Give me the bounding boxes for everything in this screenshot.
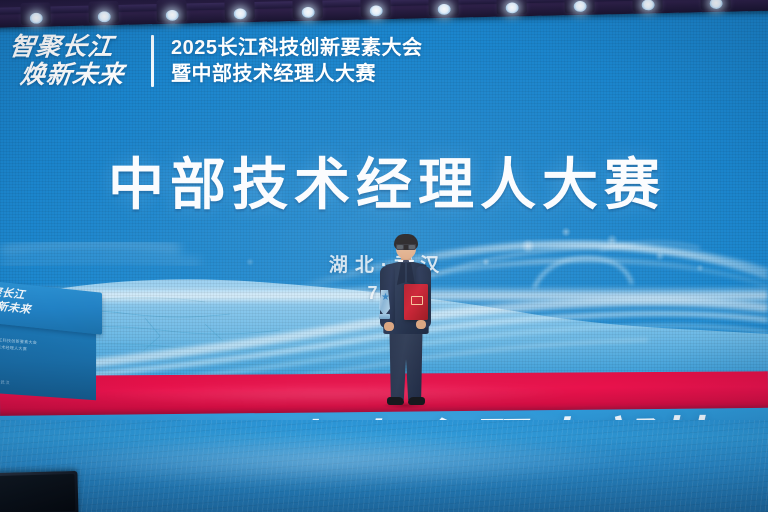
award-recipient: ★ [368, 234, 442, 414]
floor-sheen [38, 433, 637, 488]
person-shoe-right [408, 397, 425, 405]
podium-foot-text: 湖北 · 武汉 [0, 378, 11, 386]
glasses-bridge-icon [396, 244, 416, 249]
stage-light-icon [632, 0, 662, 12]
stage-light-icon [156, 0, 186, 22]
stage-floor [0, 420, 768, 512]
stage-light-icon [564, 0, 594, 13]
certificate-seal [411, 296, 423, 305]
person-trousers [388, 330, 424, 400]
slogan-line-1: 智聚长江 [8, 34, 139, 61]
logo-divider [151, 35, 154, 87]
podium-plate-text: 2025长江科技创新要素大会 暨中部技术经理人大赛 [0, 336, 70, 356]
stage-monitor [0, 471, 79, 512]
monitor-screen [0, 474, 75, 512]
trophy-base [379, 314, 390, 319]
event-logo-lockup: 智聚长江 焕新未来 2025长江科技创新要素大会 暨中部技术经理人大赛 [8, 34, 423, 89]
trophy-star-icon: ★ [381, 293, 390, 303]
stage-light-icon [428, 0, 458, 16]
stage-light-icon [700, 0, 730, 10]
slogan-line-2: 焕新未来 [5, 62, 136, 89]
podium-logo: 智聚长江 焕新未来 [0, 284, 92, 323]
event-slogan-logo: 智聚长江 焕新未来 [5, 34, 140, 89]
speaker-podium: 2025长江科技创新要素大会 暨中部技术经理人大赛 湖北 · 武汉 智聚长江 焕… [0, 286, 104, 396]
event-title-line-1: 2025长江科技创新要素大会 [171, 37, 423, 59]
stage-light-icon [20, 2, 50, 25]
person-hand-left [384, 322, 394, 331]
carpet-highlight [92, 381, 568, 406]
stage-light-icon [224, 0, 254, 21]
podium-body: 2025长江科技创新要素大会 暨中部技术经理人大赛 湖北 · 武汉 [0, 322, 96, 400]
stage-light-icon [292, 0, 322, 19]
stage-light-icon [496, 0, 526, 15]
person-hand-right [416, 320, 426, 329]
stage-light-icon [360, 0, 390, 18]
main-headline: 中部技术经理人大赛 [0, 140, 768, 221]
person-shoe-left [387, 397, 404, 405]
event-title-block: 2025长江科技创新要素大会 暨中部技术经理人大赛 [171, 37, 423, 85]
event-title-line-2: 暨中部技术经理人大赛 [171, 63, 423, 85]
event-stage-photo: 智聚长江 焕新未来 2025长江科技创新要素大会 暨中部技术经理人大赛 中部技术… [0, 0, 768, 512]
stage-light-icon [88, 1, 118, 24]
